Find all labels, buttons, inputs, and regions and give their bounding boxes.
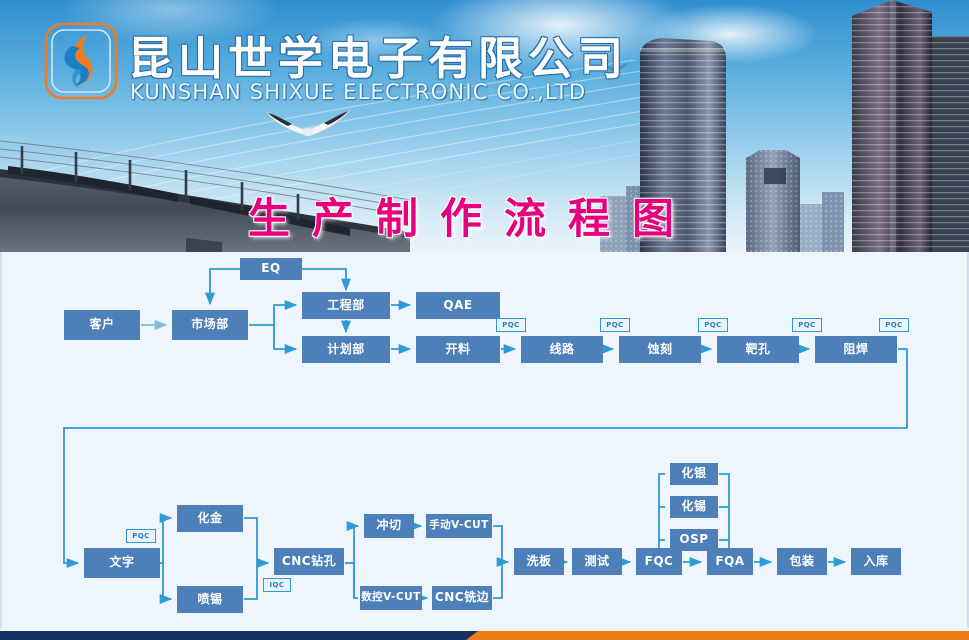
flow-node-marketing[interactable]: 市场部 [172, 310, 248, 340]
flow-node-fqa[interactable]: FQA [707, 548, 753, 575]
flow-node-cutting[interactable]: 开料 [416, 336, 500, 363]
flow-node-fqc[interactable]: FQC [636, 548, 682, 575]
flow-node-engineer[interactable]: 工程部 [302, 292, 390, 319]
flow-node-etching[interactable]: 蚀刻 [619, 336, 701, 363]
flow-node-cncmill[interactable]: CNC铣边 [432, 586, 492, 610]
flow-node-immsilver[interactable]: 化银 [670, 463, 718, 485]
flow-node-cncdrill[interactable]: CNC钻孔 [274, 548, 344, 575]
footer-stripe-icon [0, 631, 969, 640]
flow-node-test[interactable]: 测试 [572, 548, 622, 575]
footer-bar [0, 628, 969, 640]
flow-node-circuit[interactable]: 线路 [521, 336, 603, 363]
seagull-icon [262, 106, 354, 144]
flow-node-packing[interactable]: 包装 [777, 548, 827, 575]
flow-node-hasl[interactable]: 喷锡 [177, 586, 243, 613]
company-logo-icon [44, 22, 118, 100]
process-flowchart: 客户市场部EQ工程部QAE计划部开料线路蚀刻靶孔阻焊文字化金喷锡CNC钻孔冲切手… [0, 252, 969, 628]
page-title: 生产制作流程图 [248, 185, 696, 246]
flow-node-immtin[interactable]: 化锡 [670, 496, 718, 518]
flow-node-warehouse[interactable]: 入库 [851, 548, 901, 575]
page-root: 昆山世学电子有限公司 KUNSHAN SHIXUE ELECTRONIC CO.… [0, 0, 969, 640]
qc-tag-pqc-4[interactable]: PQC [792, 318, 822, 332]
company-banner: 昆山世学电子有限公司 KUNSHAN SHIXUE ELECTRONIC CO.… [0, 0, 969, 252]
flow-node-washboard[interactable]: 洗板 [514, 548, 564, 575]
qc-tag-pqc-5[interactable]: PQC [879, 318, 909, 332]
flow-node-targethole[interactable]: 靶孔 [717, 336, 799, 363]
flow-node-enig[interactable]: 化金 [177, 505, 243, 532]
flow-node-cncvcut[interactable]: 数控V-CUT [360, 586, 422, 610]
flow-node-legend[interactable]: 文字 [84, 548, 160, 578]
flow-node-planning[interactable]: 计划部 [302, 336, 390, 363]
qc-tag-pqc-6[interactable]: PQC [126, 529, 156, 543]
qc-tag-pqc-3[interactable]: PQC [698, 318, 728, 332]
flow-node-qae[interactable]: QAE [416, 292, 500, 319]
flow-node-punch[interactable]: 冲切 [364, 514, 414, 538]
flow-node-soldermask[interactable]: 阻焊 [815, 336, 897, 363]
qc-tag-pqc-2[interactable]: PQC [600, 318, 630, 332]
flow-node-customer[interactable]: 客户 [64, 310, 140, 340]
company-name-en: KUNSHAN SHIXUE ELECTRONIC CO.,LTD [130, 80, 586, 104]
qc-tag-pqc-1[interactable]: PQC [496, 318, 526, 332]
flow-node-manualvcut[interactable]: 手动V-CUT [426, 514, 492, 538]
flow-node-eq[interactable]: EQ [240, 258, 302, 280]
company-name-cn: 昆山世学电子有限公司 [128, 22, 628, 87]
qc-tag-iqc-1[interactable]: IQC [263, 578, 291, 592]
